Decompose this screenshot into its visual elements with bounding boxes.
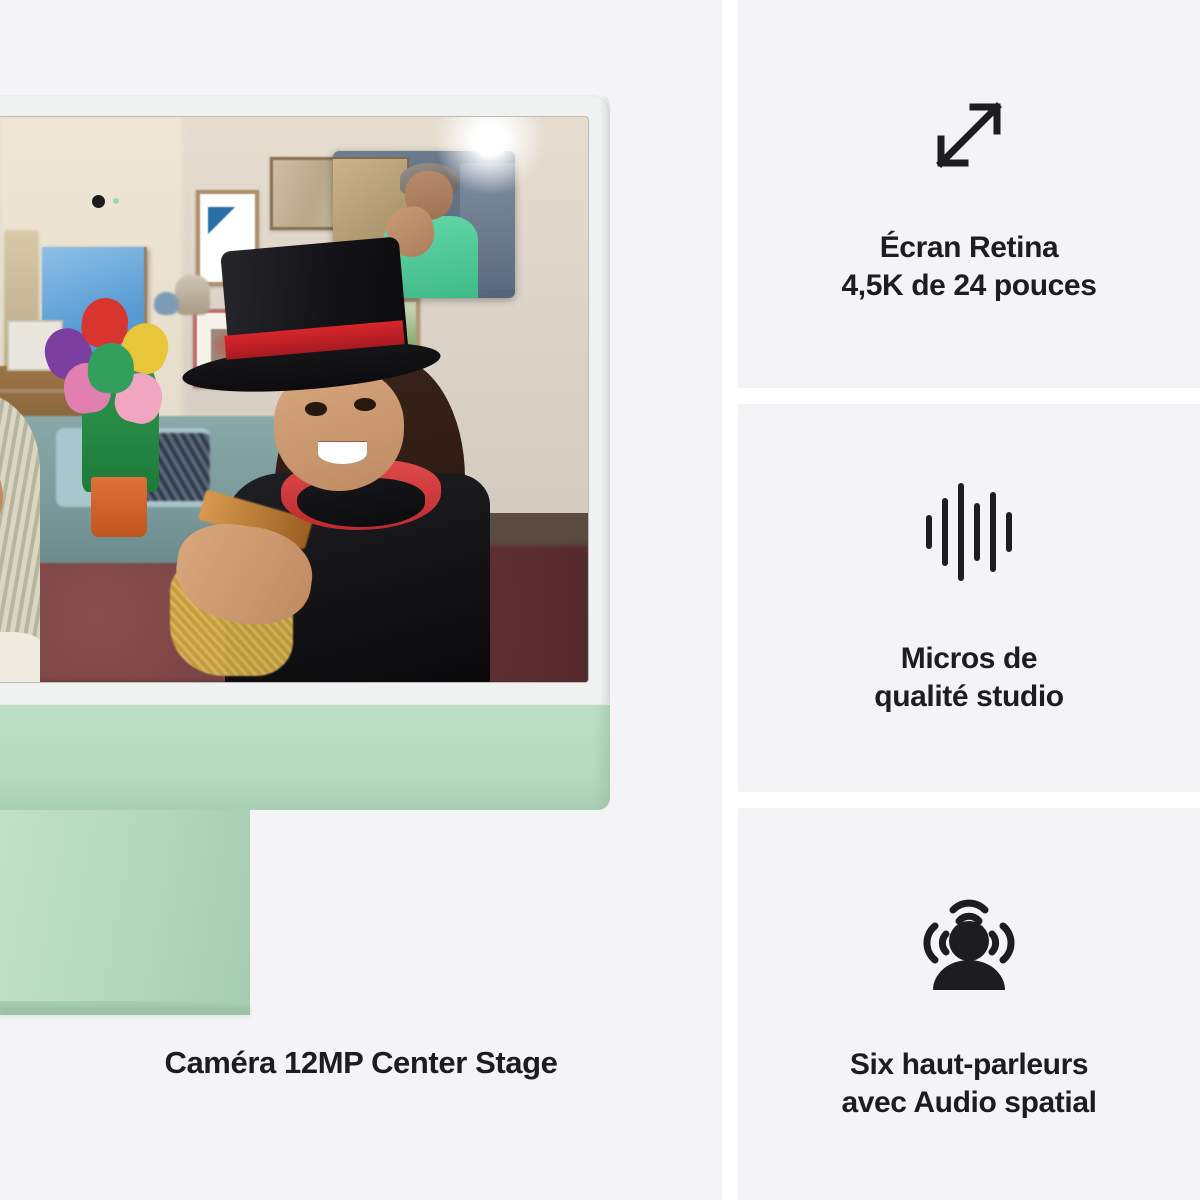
paper-flower-bouquet (42, 303, 196, 552)
hero-caption: Caméra 12MP Center Stage (0, 1045, 722, 1081)
audio-waveform-icon (917, 480, 1021, 584)
feature-card-column: Écran Retina 4,5K de 24 pouces Micros de… (738, 0, 1200, 1200)
imac-stand-shadow (0, 1007, 250, 1019)
adult-participant (0, 264, 28, 682)
camera-indicator-light-icon (113, 198, 119, 204)
flower-petal-green (87, 342, 135, 393)
imac-hero-panel: Caméra 12MP Center Stage (0, 0, 722, 1200)
feature-card-retina-display-label: Écran Retina 4,5K de 24 pouces (842, 229, 1097, 306)
imac-device (0, 95, 610, 795)
product-feature-page: Caméra 12MP Center Stage Écran Retina 4,… (0, 0, 1200, 1200)
spatial-audio-person-icon (913, 886, 1025, 998)
webcam-icon (92, 195, 105, 208)
feature-card-spatial-audio-label: Six haut-parleurs avec Audio spatial (841, 1046, 1096, 1123)
feature-card-retina-display[interactable]: Écran Retina 4,5K de 24 pouces (738, 0, 1200, 388)
feature-card-studio-mics-label: Micros de qualité studio (874, 640, 1063, 717)
facetime-scene (0, 117, 588, 682)
child-smile (318, 442, 367, 464)
expand-diagonal-arrows-icon (917, 83, 1021, 187)
imac-chin (0, 705, 610, 810)
feature-card-studio-mics[interactable]: Micros de qualité studio (738, 404, 1200, 792)
light-pants (0, 632, 40, 682)
imac-screen (0, 117, 588, 682)
feature-card-spatial-audio[interactable]: Six haut-parleurs avec Audio spatial (738, 808, 1200, 1200)
imac-stand-neck (0, 810, 250, 1015)
child-magician (182, 253, 490, 682)
child-eye-left (305, 402, 327, 415)
terracotta-pot (91, 477, 146, 537)
